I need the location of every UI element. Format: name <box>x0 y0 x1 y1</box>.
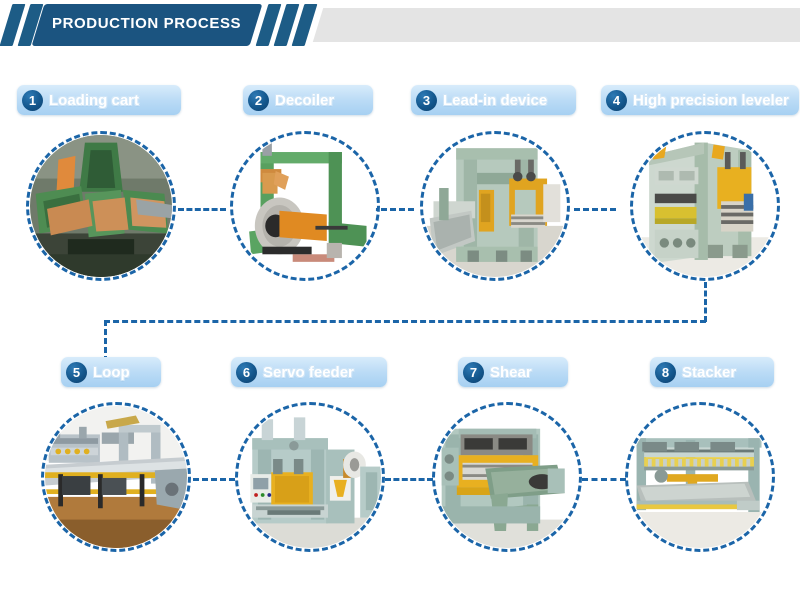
step-title-2: Decoiler <box>275 92 334 109</box>
step-node-4[interactable] <box>630 131 780 281</box>
step-number-2: 2 <box>248 90 269 111</box>
step-ring-3 <box>420 131 570 281</box>
step-ring-1 <box>26 131 176 281</box>
step-ring-8 <box>625 402 775 552</box>
connector-6-to-7 <box>385 478 433 481</box>
step-label-3[interactable]: 3 Lead-in device <box>411 85 576 115</box>
production-process-infographic: PRODUCTION PROCESS 1 Loading cart 2 Deco… <box>0 0 800 612</box>
connector-5-to-6 <box>193 478 235 481</box>
step-node-8[interactable] <box>625 402 775 552</box>
step-title-1: Loading cart <box>49 92 139 109</box>
banner-grey-bar <box>313 8 800 42</box>
step-title-5: Loop <box>93 364 130 381</box>
step-node-1[interactable] <box>26 131 176 281</box>
step-label-1[interactable]: 1 Loading cart <box>17 85 181 115</box>
connector-row-link <box>104 320 706 323</box>
connector-1-to-2 <box>178 208 226 211</box>
step-node-3[interactable] <box>420 131 570 281</box>
step-label-7[interactable]: 7 Shear <box>458 357 568 387</box>
connector-down-to-5 <box>104 320 107 362</box>
step-number-6: 6 <box>236 362 257 383</box>
step-number-1: 1 <box>22 90 43 111</box>
step-number-5: 5 <box>66 362 87 383</box>
step-number-3: 3 <box>416 90 437 111</box>
step-title-6: Servo feeder <box>263 364 354 381</box>
step-title-7: Shear <box>490 364 532 381</box>
step-number-7: 7 <box>463 362 484 383</box>
step-label-8[interactable]: 8 Stacker <box>650 357 774 387</box>
connector-3-to-4 <box>574 208 616 211</box>
step-ring-7 <box>432 402 582 552</box>
step-node-7[interactable] <box>432 402 582 552</box>
connector-7-to-8 <box>582 478 626 481</box>
step-label-2[interactable]: 2 Decoiler <box>243 85 373 115</box>
banner-title: PRODUCTION PROCESS <box>52 15 252 32</box>
step-title-3: Lead-in device <box>443 92 547 109</box>
step-node-2[interactable] <box>230 131 380 281</box>
step-ring-5 <box>41 402 191 552</box>
step-number-4: 4 <box>606 90 627 111</box>
step-node-5[interactable] <box>41 402 191 552</box>
step-number-8: 8 <box>655 362 676 383</box>
header-banner: PRODUCTION PROCESS <box>0 0 800 52</box>
step-ring-6 <box>235 402 385 552</box>
step-node-6[interactable] <box>235 402 385 552</box>
step-label-4[interactable]: 4 High precision leveler <box>601 85 799 115</box>
step-label-5[interactable]: 5 Loop <box>61 357 161 387</box>
step-ring-2 <box>230 131 380 281</box>
step-label-6[interactable]: 6 Servo feeder <box>231 357 387 387</box>
step-title-8: Stacker <box>682 364 736 381</box>
step-title-4: High precision leveler <box>633 92 789 109</box>
connector-4-down <box>704 282 707 322</box>
step-ring-4 <box>630 131 780 281</box>
